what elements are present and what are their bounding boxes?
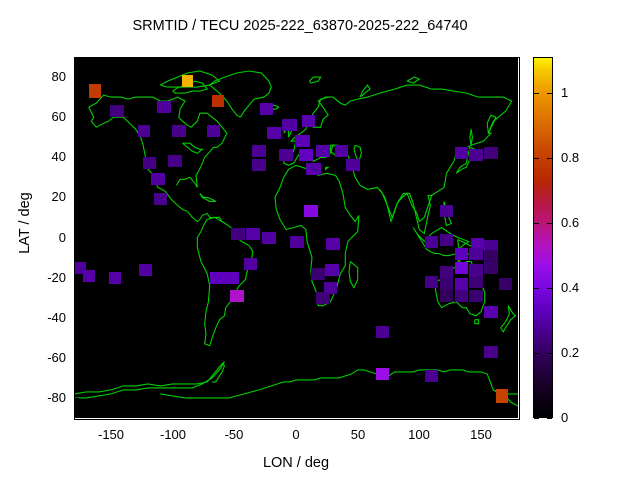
- heatmap-cell[interactable]: [316, 145, 331, 157]
- heatmap-cell[interactable]: [182, 75, 193, 87]
- y-axis-tickmark: [513, 318, 518, 319]
- colorbar-tickmark: [547, 93, 552, 94]
- x-axis-tickmark: [358, 57, 359, 62]
- colorbar-tickmark: [547, 223, 552, 224]
- heatmap-cell[interactable]: [230, 290, 244, 302]
- heatmap-cell[interactable]: [139, 264, 153, 276]
- colorbar-gradient: [534, 58, 552, 417]
- heatmap-cell[interactable]: [440, 266, 454, 278]
- colorbar-tickmark: [534, 223, 539, 224]
- colorbar-tickmark: [534, 93, 539, 94]
- colorbar-tick-label: 0.2: [561, 345, 579, 360]
- heatmap-cell[interactable]: [496, 389, 508, 403]
- heatmap-cell[interactable]: [168, 155, 182, 167]
- heatmap-cell[interactable]: [425, 276, 439, 288]
- x-axis-tickmark: [296, 57, 297, 62]
- y-axis-tickmark: [74, 197, 79, 198]
- heatmap-cell[interactable]: [484, 346, 498, 358]
- x-axis-tickmark: [234, 413, 235, 418]
- heatmap-cell[interactable]: [262, 232, 276, 244]
- y-axis-tickmark: [74, 398, 79, 399]
- heatmap-cell[interactable]: [425, 370, 439, 382]
- heatmap-cell[interactable]: [316, 292, 330, 304]
- y-axis-tickmark: [513, 197, 518, 198]
- heatmap-cells-layer[interactable]: [74, 57, 518, 418]
- y-axis-tickmark: [74, 358, 79, 359]
- x-axis-tickmark: [111, 57, 112, 62]
- x-axis-tickmark: [419, 57, 420, 62]
- colorbar-tickmark: [547, 288, 552, 289]
- heatmap-cell[interactable]: [143, 157, 157, 169]
- heatmap-cell[interactable]: [252, 159, 266, 171]
- colorbar-tick-label: 0.4: [561, 280, 579, 295]
- y-axis-tick-label: 60: [10, 109, 66, 124]
- heatmap-cell[interactable]: [83, 270, 95, 282]
- x-axis-tickmark: [358, 413, 359, 418]
- y-axis-tickmark: [74, 157, 79, 158]
- heatmap-cell[interactable]: [207, 125, 221, 137]
- y-axis-tick-label: -60: [10, 350, 66, 365]
- heatmap-cell[interactable]: [440, 278, 454, 290]
- y-axis-tickmark: [513, 77, 518, 78]
- heatmap-cell[interactable]: [484, 262, 498, 274]
- heatmap-cell[interactable]: [469, 149, 483, 161]
- x-axis-tickmark: [173, 57, 174, 62]
- heatmap-cell[interactable]: [260, 103, 274, 115]
- heatmap-cell[interactable]: [138, 125, 150, 137]
- heatmap-cell[interactable]: [325, 264, 339, 276]
- colorbar-tickmark: [534, 158, 539, 159]
- heatmap-cell[interactable]: [455, 290, 469, 302]
- heatmap-cell[interactable]: [302, 115, 316, 127]
- heatmap-cell[interactable]: [282, 119, 297, 131]
- heatmap-cell[interactable]: [231, 228, 245, 240]
- heatmap-cell[interactable]: [455, 262, 469, 274]
- y-axis-tickmark: [513, 157, 518, 158]
- heatmap-cell[interactable]: [311, 268, 325, 280]
- heatmap-cell[interactable]: [279, 149, 294, 161]
- x-axis-tickmark: [481, 57, 482, 62]
- y-axis-tickmark: [74, 77, 79, 78]
- colorbar-tickmark: [534, 418, 539, 419]
- y-axis-tickmark: [74, 278, 79, 279]
- heatmap-cell[interactable]: [440, 290, 454, 302]
- y-axis-label: LAT / deg: [17, 163, 33, 283]
- heatmap-cell[interactable]: [267, 127, 281, 139]
- heatmap-cell[interactable]: [499, 278, 513, 290]
- colorbar-tickmark: [534, 353, 539, 354]
- heatmap-cell[interactable]: [484, 306, 498, 318]
- y-axis-tickmark: [74, 318, 79, 319]
- x-axis-tickmark: [419, 413, 420, 418]
- heatmap-cell[interactable]: [425, 236, 439, 248]
- y-axis-tick-label: -80: [10, 390, 66, 405]
- heatmap-cell[interactable]: [376, 326, 390, 338]
- colorbar-tickmark: [547, 353, 552, 354]
- heatmap-cell[interactable]: [151, 173, 165, 185]
- heatmap-cell[interactable]: [455, 278, 469, 290]
- colorbar-tickmark: [547, 418, 552, 419]
- heatmap-cell[interactable]: [469, 248, 483, 260]
- colorbar-tick-label: 0: [561, 410, 568, 425]
- x-axis-tickmark: [296, 413, 297, 418]
- map-plot-area[interactable]: [74, 57, 518, 418]
- heatmap-cell[interactable]: [295, 135, 310, 147]
- heatmap-cell[interactable]: [306, 163, 321, 175]
- page-title: SRMTID / TECU 2025-222_63870-2025-222_64…: [0, 18, 600, 34]
- x-axis-label: LON / deg: [74, 455, 518, 471]
- y-axis-tickmark: [513, 398, 518, 399]
- heatmap-cell[interactable]: [244, 258, 258, 270]
- heatmap-cell[interactable]: [290, 236, 304, 248]
- heatmap-cell[interactable]: [346, 159, 360, 171]
- heatmap-cell[interactable]: [154, 193, 168, 205]
- heatmap-cell[interactable]: [335, 145, 349, 157]
- heatmap-cell[interactable]: [252, 145, 266, 157]
- y-axis-tickmark: [513, 278, 518, 279]
- y-axis-tick-label: 80: [10, 69, 66, 84]
- x-axis-tickmark: [173, 413, 174, 418]
- y-axis-tick-label: -40: [10, 310, 66, 325]
- heatmap-cell[interactable]: [109, 272, 121, 284]
- colorbar-tick-label: 0.8: [561, 150, 579, 165]
- heatmap-cell[interactable]: [469, 276, 483, 288]
- heatmap-cell[interactable]: [246, 228, 260, 240]
- x-axis-tick-label: 150: [441, 427, 521, 442]
- heatmap-cell[interactable]: [455, 147, 469, 159]
- heatmap-cell[interactable]: [304, 205, 318, 217]
- heatmap-cell[interactable]: [326, 238, 340, 250]
- heatmap-cell[interactable]: [440, 205, 454, 217]
- heatmap-cell[interactable]: [212, 95, 224, 107]
- colorbar: [533, 57, 553, 418]
- plot-figure: SRMTID / TECU 2025-222_63870-2025-222_64…: [0, 0, 640, 480]
- heatmap-cell[interactable]: [440, 234, 454, 246]
- x-axis-tickmark: [234, 57, 235, 62]
- y-axis-tick-label: 40: [10, 149, 66, 164]
- heatmap-cell[interactable]: [110, 105, 124, 117]
- heatmap-cell[interactable]: [89, 84, 101, 98]
- y-axis-tickmark: [513, 117, 518, 118]
- heatmap-cell[interactable]: [484, 250, 498, 262]
- colorbar-tick-label: 1: [561, 85, 568, 100]
- heatmap-cell[interactable]: [484, 147, 498, 159]
- heatmap-cell[interactable]: [469, 290, 483, 302]
- heatmap-cell[interactable]: [299, 149, 314, 161]
- y-axis-tickmark: [74, 238, 79, 239]
- heatmap-cell[interactable]: [376, 368, 390, 380]
- y-axis-tickmark: [513, 358, 518, 359]
- x-axis-tickmark: [111, 413, 112, 418]
- x-axis-tickmark: [481, 413, 482, 418]
- heatmap-cell[interactable]: [455, 248, 469, 260]
- heatmap-cell[interactable]: [172, 125, 186, 137]
- colorbar-tick-label: 0.6: [561, 215, 579, 230]
- y-axis-tickmark: [74, 117, 79, 118]
- y-axis-tickmark: [513, 238, 518, 239]
- heatmap-cell[interactable]: [469, 264, 483, 276]
- heatmap-cell[interactable]: [157, 101, 171, 113]
- colorbar-tickmark: [534, 288, 539, 289]
- heatmap-cell[interactable]: [210, 272, 238, 284]
- colorbar-tickmark: [547, 158, 552, 159]
